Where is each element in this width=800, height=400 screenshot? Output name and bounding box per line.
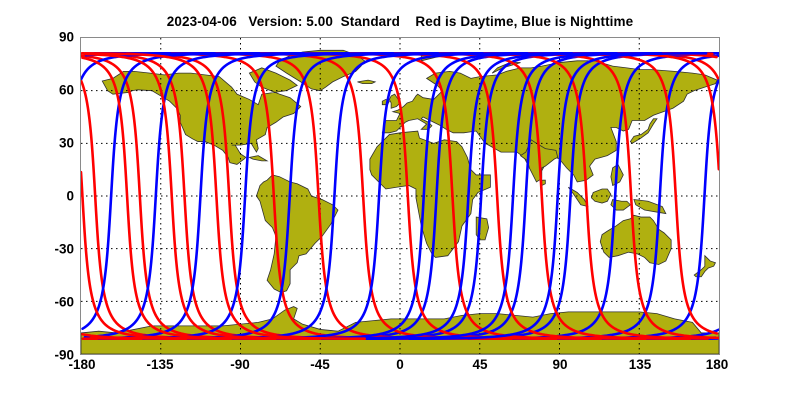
- x-tick-0: 0: [396, 357, 404, 372]
- y-tick-0: 0: [14, 189, 74, 204]
- x-tick-neg90: -90: [230, 357, 250, 372]
- y-tick-60: 60: [14, 83, 74, 98]
- map-canvas: [81, 38, 719, 354]
- x-tick-90: 90: [552, 357, 567, 372]
- x-tick-180: 180: [706, 357, 729, 372]
- y-tick-neg90: -90: [14, 348, 74, 363]
- x-tick-neg180: -180: [68, 357, 95, 372]
- ground-track-map-figure: 2023-04-06 Version: 5.00 Standard Red is…: [0, 0, 800, 400]
- x-tick-45: 45: [472, 357, 487, 372]
- x-tick-135: 135: [629, 357, 652, 372]
- y-tick-90: 90: [14, 30, 74, 45]
- y-tick-neg60: -60: [14, 295, 74, 310]
- y-tick-30: 30: [14, 136, 74, 151]
- x-tick-neg135: -135: [146, 357, 173, 372]
- x-tick-neg45: -45: [310, 357, 330, 372]
- map-plot-area: [80, 37, 720, 355]
- y-tick-neg30: -30: [14, 242, 74, 257]
- figure-title: 2023-04-06 Version: 5.00 Standard Red is…: [0, 14, 800, 29]
